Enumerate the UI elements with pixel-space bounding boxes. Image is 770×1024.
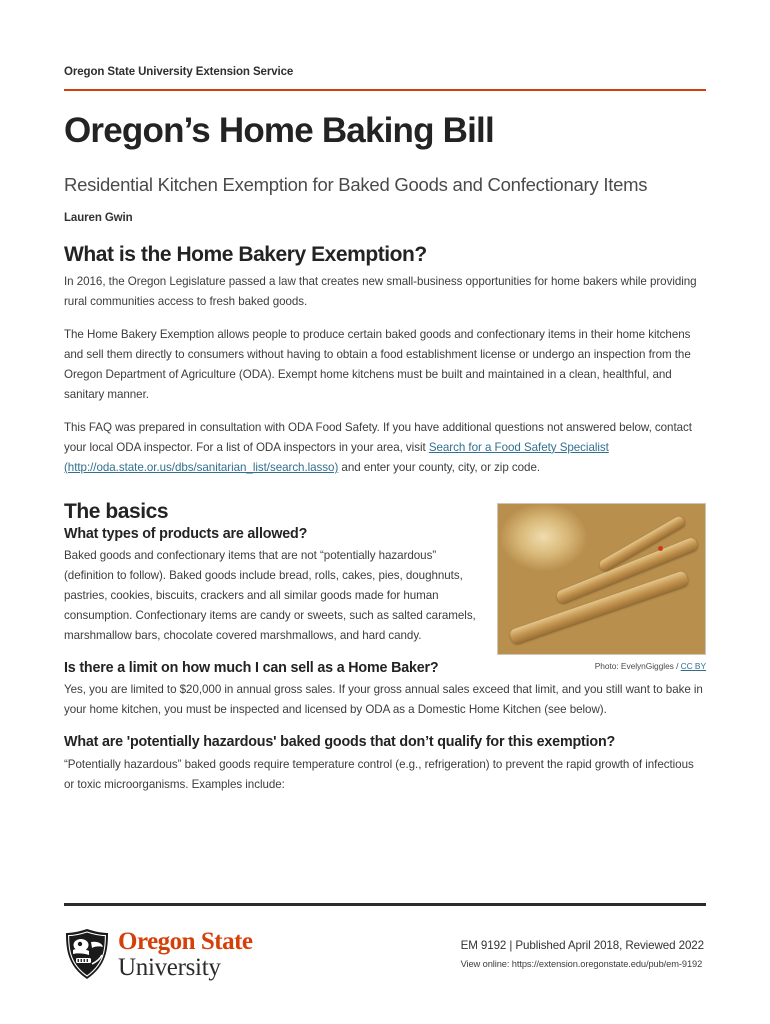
photo-credit-text: Photo: EvelynGiggles / [595,661,681,671]
osu-logo-line-oregon-state: Oregon State [118,929,253,954]
food-safety-specialist-link[interactable]: Search for a Food Safety Specialist [429,441,609,454]
footer-divider-rule [64,903,706,906]
photo-block: Photo: EvelynGiggles / CC BY [497,503,706,671]
cc-by-license-link[interactable]: CC BY [681,661,706,671]
section-heading-exemption: What is the Home Bakery Exemption? [64,243,706,267]
basics-section: Photo: EvelynGiggles / CC BY The basics … [64,500,706,795]
answer-potentially-hazardous: “Potentially hazardous” baked goods requ… [64,755,706,795]
publication-id-and-date: EM 9192 | Published April 2018, Reviewed… [461,939,704,952]
publication-info: EM 9192 | Published April 2018, Reviewed… [461,939,706,969]
masthead-accent-rule [64,89,706,92]
photo-caption: Photo: EvelynGiggles / CC BY [497,661,706,671]
footer-content: Oregon State University EM 9192 | Publis… [64,928,706,980]
photo-accent-dot [658,546,663,551]
title-block: Oregon’s Home Baking Bill Residential Ki… [64,111,706,224]
paragraph-exemption-details: The Home Bakery Exemption allows people … [64,325,706,405]
question-potentially-hazardous: What are 'potentially hazardous' baked g… [64,734,706,751]
osu-logo: Oregon State University [64,928,364,980]
page-title: Oregon’s Home Baking Bill [64,111,706,150]
page-subtitle: Residential Kitchen Exemption for Baked … [64,174,706,196]
paragraph-legislature: In 2016, the Oregon Legislature passed a… [64,272,706,312]
view-online-url: View online: https://extension.oregonsta… [461,959,704,969]
author-byline: Lauren Gwin [64,212,706,224]
osu-beaver-shield-icon [64,928,110,980]
document-page: Oregon State University Extension Servic… [0,0,770,1024]
osu-logo-wordmark: Oregon State University [118,929,253,980]
baked-goods-photo [497,503,706,655]
page-footer: Oregon State University EM 9192 | Publis… [64,903,706,980]
masthead: Oregon State University Extension Servic… [64,0,706,91]
faq-text-after-link: and enter your county, city, or zip code… [338,461,540,474]
food-safety-specialist-url[interactable]: (http://oda.state.or.us/dbs/sanitarian_l… [64,461,338,474]
osu-logo-line-university: University [118,955,253,980]
answer-sales-limit: Yes, you are limited to $20,000 in annua… [64,680,706,720]
masthead-title: Oregon State University Extension Servic… [64,66,706,80]
paragraph-faq-contact: This FAQ was prepared in consultation wi… [64,418,706,478]
